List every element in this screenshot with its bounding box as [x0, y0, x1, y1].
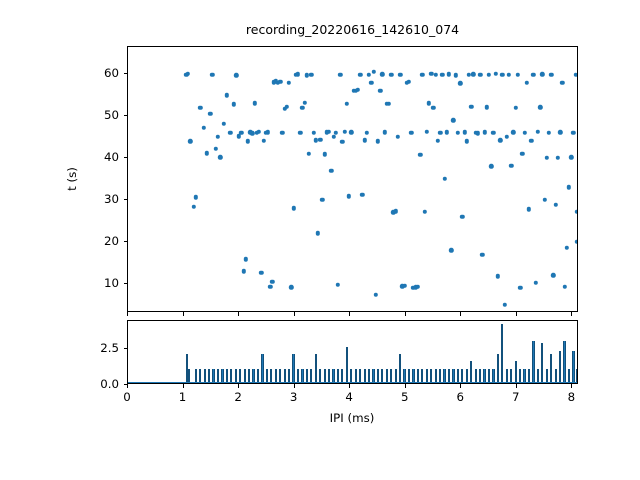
histogram-bar	[261, 354, 263, 383]
scatter-point	[442, 176, 446, 180]
scatter-point	[525, 80, 529, 84]
x-tick-label: 5	[401, 390, 409, 404]
scatter-point	[191, 205, 195, 209]
y-tick-mark	[124, 199, 128, 200]
x-tick-mark	[238, 312, 239, 316]
scatter-point	[349, 130, 353, 134]
y-tick-label: 50	[81, 108, 119, 122]
scatter-point	[394, 209, 398, 213]
scatter-point	[198, 106, 202, 110]
scatter-point	[533, 281, 537, 285]
y-tick-label: 40	[81, 150, 119, 164]
scatter-point	[210, 72, 214, 76]
scatter-point	[369, 81, 373, 85]
x-tick-label: 2	[234, 390, 242, 404]
scatter-point	[445, 130, 449, 134]
x-tick-label: 0	[123, 390, 131, 404]
x-tick-mark	[349, 312, 350, 316]
scatter-point	[513, 106, 517, 110]
x-tick-mark	[405, 312, 406, 316]
scatter-point	[511, 130, 515, 134]
x-tick-mark	[516, 312, 517, 316]
scatter-point	[266, 130, 270, 134]
scatter-point	[553, 203, 557, 207]
x-tick-mark	[127, 312, 128, 316]
scatter-point	[291, 206, 295, 210]
scatter-point	[458, 81, 462, 85]
scatter-point	[558, 130, 562, 134]
scatter-point	[257, 130, 261, 134]
x-tick-label: 3	[290, 390, 298, 404]
scatter-point	[556, 155, 560, 159]
x-tick-mark	[183, 312, 184, 316]
y-tick-label: 60	[81, 66, 119, 80]
scatter-point	[374, 293, 378, 297]
x-tick-mark	[460, 384, 461, 388]
scatter-point	[298, 131, 302, 135]
y-tick-label: 20	[81, 234, 119, 248]
scatter-point	[380, 72, 384, 76]
scatter-point	[311, 131, 315, 135]
histogram-bar	[563, 341, 565, 383]
histogram-bar	[515, 361, 517, 383]
scatter-point	[545, 156, 549, 160]
scatter-point	[527, 207, 531, 211]
scatter-point	[489, 164, 493, 168]
y-tick-mark	[124, 241, 128, 242]
scatter-point	[529, 139, 533, 143]
x-tick-label: 6	[456, 390, 464, 404]
histogram-bar	[346, 347, 348, 383]
scatter-point	[447, 72, 451, 76]
scatter-point	[261, 139, 265, 143]
scatter-point	[551, 273, 555, 277]
x-tick-mark	[183, 384, 184, 388]
scatter-point	[416, 285, 420, 289]
scatter-point	[259, 271, 263, 275]
scatter-point	[336, 283, 340, 287]
scatter-point	[398, 72, 402, 76]
x-tick-mark	[516, 384, 517, 388]
scatter-point	[360, 193, 364, 197]
scatter-point	[208, 112, 212, 116]
scatter-point	[493, 72, 497, 76]
scatter-point	[367, 72, 371, 76]
x-tick-label: 7	[512, 390, 520, 404]
histogram-bar	[470, 361, 472, 383]
scatter-point	[280, 131, 284, 135]
scatter-point	[440, 72, 444, 76]
x-tick-mark	[460, 312, 461, 316]
x-tick-label: 4	[345, 390, 353, 404]
scatter-point	[453, 73, 457, 77]
scatter-point	[433, 73, 437, 77]
scatter-point	[378, 89, 382, 93]
y-tick-mark	[124, 283, 128, 284]
scatter-point	[270, 280, 274, 284]
scatter-point	[571, 131, 575, 135]
y-tick-label: 10	[81, 276, 119, 290]
scatter-point	[287, 81, 291, 85]
scatter-point	[562, 284, 566, 288]
scatter-point	[567, 185, 571, 189]
scatter-point	[575, 240, 578, 244]
scatter-point	[549, 73, 553, 77]
scatter-point	[487, 72, 491, 76]
scatter-point	[478, 73, 482, 77]
scatter-point	[246, 139, 250, 143]
scatter-point	[302, 101, 306, 105]
scatter-point	[438, 131, 442, 135]
x-tick-mark	[127, 384, 128, 388]
x-tick-mark	[405, 384, 406, 388]
scatter-point	[496, 274, 500, 278]
scatter-point	[318, 137, 322, 141]
scatter-point	[465, 139, 469, 143]
scatter-point	[268, 285, 272, 289]
scatter-point	[520, 152, 524, 156]
matplotlib-figure: recording_20220616_142610_074 1020304050…	[0, 0, 640, 480]
scatter-point	[542, 198, 546, 202]
scatter-point	[239, 131, 243, 135]
scatter-point	[518, 286, 522, 290]
scatter-point	[476, 131, 480, 135]
scatter-point	[347, 194, 351, 198]
scatter-point	[338, 72, 342, 76]
scatter-point	[278, 80, 282, 84]
y-tick-mark	[124, 73, 128, 74]
histogram-baseline	[128, 382, 578, 383]
scatter-point	[569, 155, 573, 159]
scatter-point	[307, 152, 311, 156]
histogram-bar	[315, 354, 317, 383]
scatter-point	[216, 135, 220, 139]
histogram-x-axis-label: IPI (ms)	[330, 411, 375, 425]
scatter-point	[462, 130, 466, 134]
scatter-point	[356, 88, 360, 92]
scatter-point	[507, 72, 511, 76]
scatter-point	[205, 151, 209, 155]
scatter-point	[231, 102, 235, 106]
y-tick-label: 30	[81, 192, 119, 206]
scatter-point	[469, 105, 473, 109]
scatter-point	[376, 139, 380, 143]
histogram-bar	[501, 324, 503, 383]
scatter-point	[505, 135, 509, 139]
scatter-point	[345, 101, 349, 105]
scatter-point	[500, 73, 504, 77]
scatter-point	[498, 138, 502, 142]
scatter-point	[316, 231, 320, 235]
scatter-point	[234, 73, 238, 77]
scatter-point	[221, 122, 225, 126]
x-tick-mark	[294, 312, 295, 316]
scatter-point	[418, 152, 422, 156]
scatter-point	[342, 130, 346, 134]
x-tick-mark	[571, 384, 572, 388]
y-tick-mark	[124, 115, 128, 116]
scatter-point	[331, 135, 335, 139]
scatter-point	[362, 138, 366, 142]
scatter-point	[420, 72, 424, 76]
scatter-point	[456, 131, 460, 135]
scatter-point	[427, 101, 431, 105]
scatter-point	[425, 130, 429, 134]
scatter-point	[396, 135, 400, 139]
scatter-point	[480, 253, 484, 257]
scatter-point	[536, 130, 540, 134]
scatter-point	[431, 106, 435, 110]
scatter-point	[547, 131, 551, 135]
x-tick-mark	[349, 384, 350, 388]
scatter-point	[300, 106, 304, 110]
scatter-point	[334, 131, 338, 135]
x-tick-mark	[571, 312, 572, 316]
scatter-point	[296, 72, 300, 76]
scatter-point	[540, 72, 544, 76]
scatter-point	[573, 72, 577, 76]
scatter-point	[244, 257, 248, 261]
scatter-point	[218, 155, 222, 159]
histogram-bar	[497, 354, 499, 383]
x-tick-mark	[294, 384, 295, 388]
histogram-bar	[399, 354, 401, 383]
scatter-point	[201, 126, 205, 130]
scatter-point	[329, 168, 333, 172]
scatter-point	[186, 72, 190, 76]
scatter-point	[214, 147, 218, 151]
scatter-point	[241, 269, 245, 273]
scatter-point	[188, 139, 192, 143]
scatter-point	[509, 163, 513, 167]
scatter-point	[451, 118, 455, 122]
scatter-point	[387, 101, 391, 105]
scatter-point	[289, 285, 293, 289]
histogram-bar	[572, 351, 574, 383]
scatter-point	[365, 131, 369, 135]
scatter-point	[449, 248, 453, 252]
histogram-bar	[559, 351, 561, 383]
scatter-point	[516, 73, 520, 77]
scatter-point	[309, 72, 313, 76]
scatter-point	[194, 195, 198, 199]
scatter-point	[522, 131, 526, 135]
scatter-point	[560, 80, 564, 84]
scatter-point	[320, 198, 324, 202]
scatter-point	[322, 152, 326, 156]
page-title: recording_20220616_142610_074	[127, 22, 578, 37]
y-tick-label: 0.0	[75, 377, 119, 391]
scatter-point	[402, 284, 406, 288]
scatter-point	[422, 209, 426, 213]
scatter-point	[409, 131, 413, 135]
histogram-axes	[127, 320, 578, 384]
y-tick-label: 2.5	[75, 341, 119, 355]
histogram-bar	[532, 341, 534, 383]
histogram-bar	[550, 354, 552, 383]
y-tick-mark	[124, 157, 128, 158]
scatter-point	[358, 73, 362, 77]
scatter-point	[327, 129, 331, 133]
scatter-point	[531, 72, 535, 76]
scatter-point	[471, 72, 475, 76]
scatter-point	[482, 130, 486, 134]
scatter-axes	[127, 46, 578, 312]
scatter-point	[285, 105, 289, 109]
scatter-point	[371, 70, 375, 74]
scatter-point	[491, 131, 495, 135]
scatter-point	[575, 209, 578, 213]
x-tick-label: 1	[179, 390, 187, 404]
scatter-point	[502, 302, 506, 306]
scatter-point	[436, 139, 440, 143]
scatter-point	[565, 246, 569, 250]
scatter-point	[228, 131, 232, 135]
scatter-point	[252, 101, 256, 105]
scatter-point	[407, 80, 411, 84]
scatter-point	[485, 105, 489, 109]
scatter-point	[340, 140, 344, 144]
x-tick-mark	[238, 384, 239, 388]
scatter-y-axis-label: t (s)	[65, 167, 79, 191]
scatter-point	[538, 105, 542, 109]
histogram-bar	[541, 343, 543, 383]
scatter-point	[382, 130, 386, 134]
histogram-bar	[292, 354, 294, 383]
scatter-point	[389, 73, 393, 77]
scatter-point	[460, 214, 464, 218]
y-tick-mark	[124, 348, 128, 349]
scatter-point	[225, 93, 229, 97]
x-tick-label: 8	[568, 390, 576, 404]
